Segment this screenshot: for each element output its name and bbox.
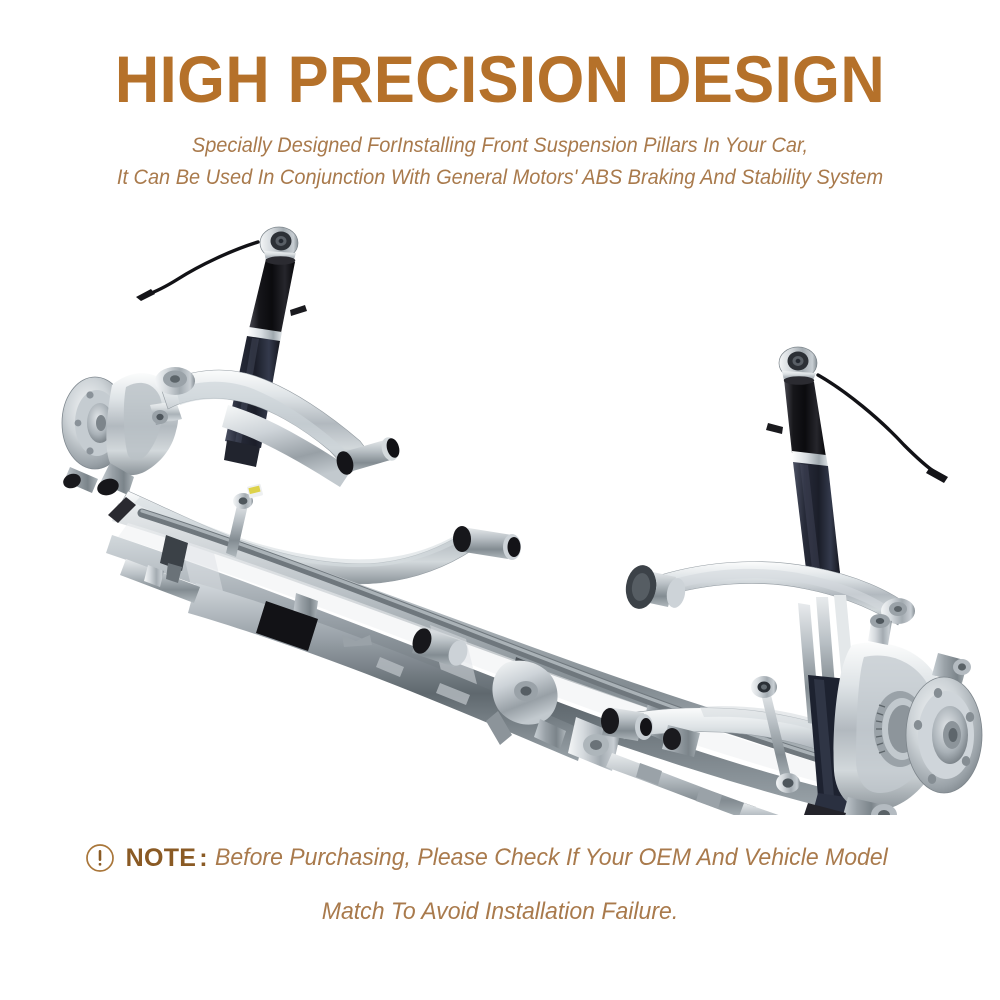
left-upper-control-arm (155, 367, 402, 487)
note-separator: : (199, 844, 207, 873)
note-section: NOTE : Before Purchasing, Please Check I… (0, 843, 1000, 926)
right-tie-rod-end (738, 803, 798, 815)
wheel-hub-flange (906, 677, 982, 793)
note-label: NOTE (126, 844, 197, 873)
right-shock-absorber (766, 347, 948, 585)
suspension-assembly-illustration (0, 205, 1000, 815)
right-wire-connector-icon (926, 467, 948, 483)
exclamation-circle-icon (85, 843, 115, 873)
right-upper-control-arm (623, 562, 915, 625)
wire-connector-icon (136, 289, 155, 301)
right-shock-cylinder (784, 379, 826, 457)
subtitle-block: Specially Designed ForInstalling Front S… (0, 130, 1000, 194)
subtitle-line-2: It Can Be Used In Conjunction With Gener… (25, 162, 975, 194)
left-shock-valve (290, 305, 307, 316)
product-image (0, 205, 1000, 815)
subtitle-line-1: Specially Designed ForInstalling Front S… (25, 130, 975, 162)
note-line-1: NOTE : Before Purchasing, Please Check I… (0, 843, 1000, 873)
abs-sensor-wire (146, 242, 258, 295)
right-shock-valve (766, 423, 783, 434)
note-text-line-1: Before Purchasing, Please Check If Your … (215, 844, 888, 872)
page-title: HIGH PRECISION DESIGN (35, 0, 965, 112)
header: HIGH PRECISION DESIGN Specially Designed… (0, 0, 1000, 194)
left-warning-label (247, 483, 263, 498)
right-abs-sensor-wire (818, 375, 936, 473)
left-shock-cylinder (249, 259, 295, 333)
note-text-line-2: Match To Avoid Installation Failure. (20, 898, 980, 926)
product-marketing-page: HIGH PRECISION DESIGN Specially Designed… (0, 0, 1000, 1000)
